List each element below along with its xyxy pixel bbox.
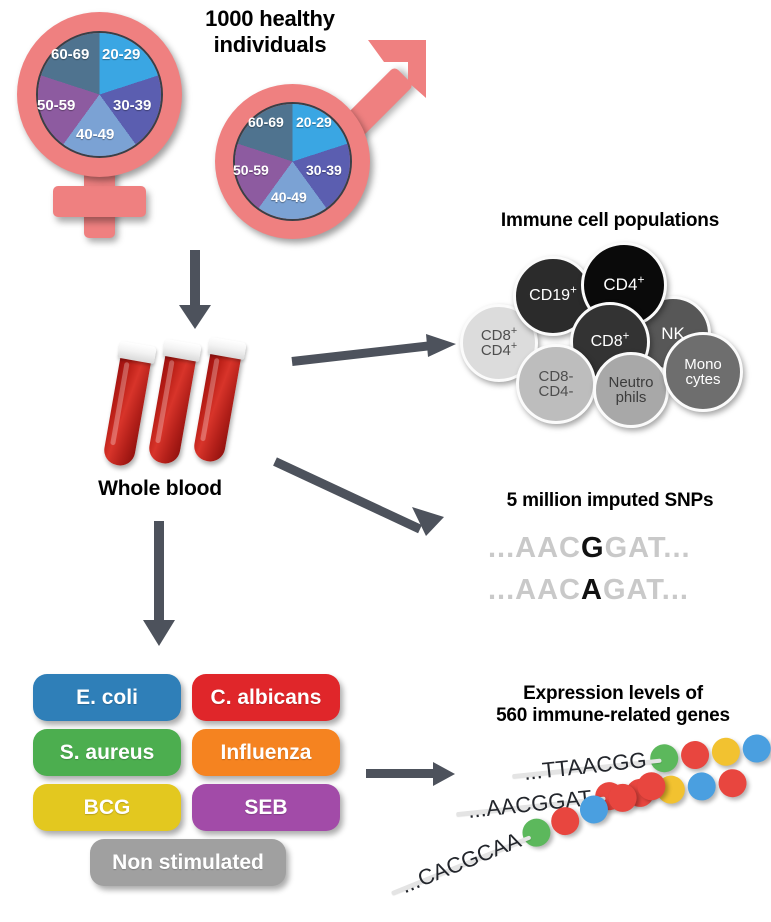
stimulation-pill-e-coli[interactable]: E. coli bbox=[33, 674, 181, 721]
female-pie-label-40-49: 40-49 bbox=[76, 126, 114, 143]
female-pie-label-20-29: 20-29 bbox=[102, 46, 140, 63]
stimulation-pill-non-stimulated[interactable]: Non stimulated bbox=[90, 839, 286, 886]
stimulation-pill-seb[interactable]: SEB bbox=[192, 784, 340, 831]
immune-cell-neutrophils: Neutrophils bbox=[593, 352, 669, 428]
immune-cell-cd8neg-cd4neg: CD8-CD4- bbox=[516, 344, 596, 424]
stimulation-pill-c-albicans[interactable]: C. albicans bbox=[192, 674, 340, 721]
immune-cells-heading: Immune cell populations bbox=[455, 210, 765, 232]
male-pie-label-20-29: 20-29 bbox=[296, 114, 332, 130]
snp-sequences: ...AACGGAT... ...AACAGAT... bbox=[470, 530, 760, 610]
dna-bead-green bbox=[518, 814, 554, 850]
immune-cell-label: CD8+ bbox=[591, 334, 630, 350]
immune-cell-label: CD8+CD4+ bbox=[481, 328, 517, 359]
male-pie-label-30-39: 30-39 bbox=[306, 162, 342, 178]
expression-heading: Expression levels of 560 immune-related … bbox=[455, 683, 771, 728]
male-symbol: 20-29 30-39 40-49 50-59 60-69 bbox=[205, 40, 420, 240]
dna-bead-blue bbox=[741, 733, 771, 764]
male-symbol-arrowhead bbox=[346, 34, 432, 120]
male-pie-label-50-59: 50-59 bbox=[233, 162, 269, 178]
snps-heading: 5 million imputed SNPs bbox=[460, 490, 760, 512]
expression-heading-line2: 560 immune-related genes bbox=[455, 705, 771, 727]
snp-sequence-row: ...AACGGAT... bbox=[488, 532, 691, 565]
immune-cell-label: CD19+ bbox=[529, 288, 577, 304]
dna-bead-yellow bbox=[711, 736, 742, 767]
blood-tube bbox=[102, 341, 154, 468]
arrow-head bbox=[179, 305, 211, 329]
male-pie-label-60-69: 60-69 bbox=[248, 114, 284, 130]
immune-cell-label: CD4+ bbox=[603, 276, 644, 294]
snp-prefix: ...AAC bbox=[488, 532, 581, 564]
stimulation-pill-s-aureus[interactable]: S. aureus bbox=[33, 729, 181, 776]
snp-highlight-nucleotide: G bbox=[581, 532, 605, 564]
expression-heading-line1: Expression levels of bbox=[455, 683, 771, 705]
snp-prefix: ...AAC bbox=[488, 574, 581, 606]
stimulations-panel: E. coli C. albicans S. aureus Influenza … bbox=[28, 672, 348, 902]
immune-cell-label: Neutrophils bbox=[608, 375, 653, 406]
snp-sequence-row: ...AACAGAT... bbox=[488, 574, 689, 607]
arrow-head bbox=[410, 505, 448, 543]
male-pie-label-40-49: 40-49 bbox=[271, 189, 307, 205]
snp-highlight-nucleotide: A bbox=[581, 574, 603, 606]
arrow-shaft bbox=[291, 341, 436, 366]
expression-strands: ...TTAACGG ...AACGGAT ...CACGCAA bbox=[440, 735, 771, 915]
arrow-shaft bbox=[154, 521, 164, 622]
immune-cell-monocytes: Monocytes bbox=[663, 332, 743, 412]
female-pie-label-30-39: 30-39 bbox=[113, 97, 151, 114]
cohort-heading-line1: 1000 healthy bbox=[170, 6, 370, 32]
arrow-shaft bbox=[190, 250, 200, 308]
dna-bead-blue bbox=[687, 771, 718, 802]
whole-blood-label: Whole blood bbox=[60, 477, 260, 502]
female-pie-label-50-59: 50-59 bbox=[37, 97, 75, 114]
dna-bead-red bbox=[717, 768, 748, 799]
arrow-shaft bbox=[366, 769, 435, 778]
stimulation-pill-influenza[interactable]: Influenza bbox=[192, 729, 340, 776]
arrow-head bbox=[143, 620, 175, 646]
immune-cell-label: CD8-CD4- bbox=[538, 369, 573, 400]
dna-bead-red bbox=[680, 740, 711, 771]
dna-sequence-text: ...CACGCAA bbox=[397, 827, 525, 899]
female-pie-label-60-69: 60-69 bbox=[51, 46, 89, 63]
snp-suffix: GAT... bbox=[605, 532, 691, 564]
stimulation-pill-bcg[interactable]: BCG bbox=[33, 784, 181, 831]
female-symbol-crossbar bbox=[53, 186, 146, 217]
immune-cell-label: Monocytes bbox=[684, 357, 722, 388]
female-symbol: 20-29 30-39 40-49 50-59 60-69 bbox=[10, 8, 190, 238]
snp-suffix: GAT... bbox=[603, 574, 689, 606]
immune-cells-cluster: CD8+CD4+ NK CD19+ CD4+ CD8+ CD8-CD4- Neu… bbox=[455, 240, 771, 430]
dna-strand: ...CACGCAA bbox=[397, 768, 670, 900]
